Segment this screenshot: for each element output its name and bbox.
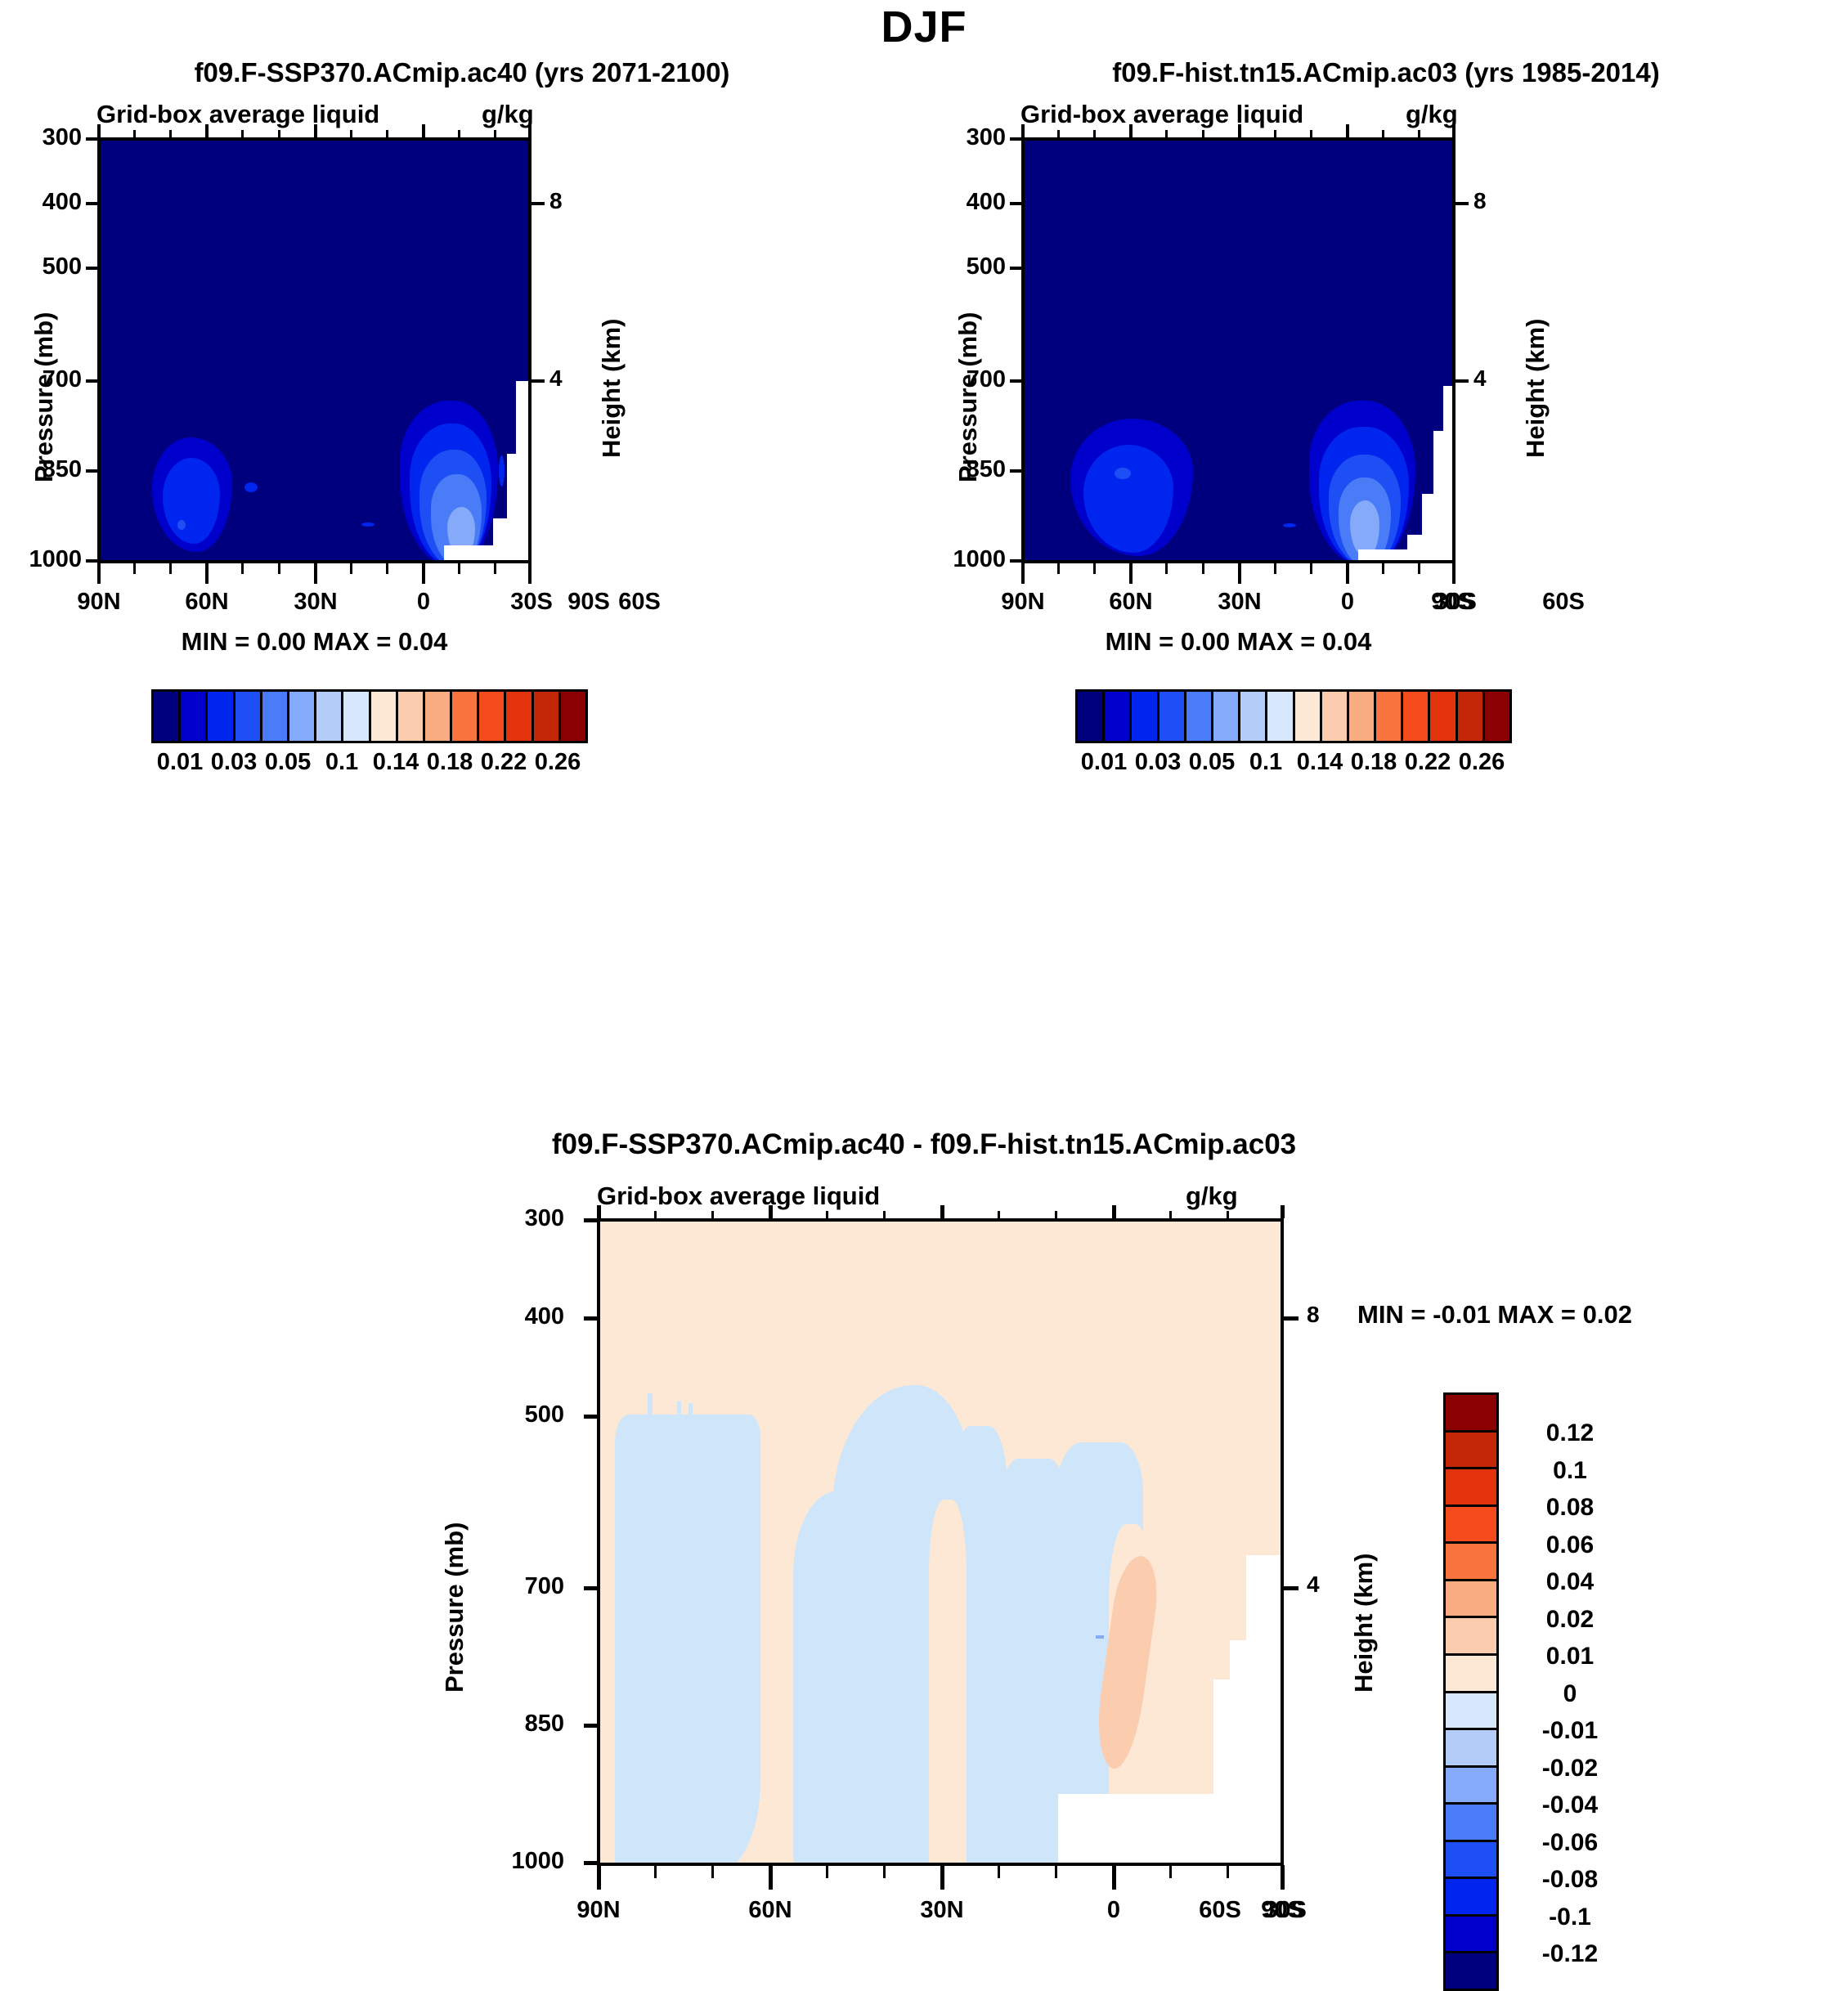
colorbar-label: 0.26 xyxy=(1439,749,1524,776)
panel-top-right-plot-area xyxy=(1021,137,1456,563)
colorbar-cell xyxy=(1446,1656,1496,1693)
missing-data-mask-step1 xyxy=(1433,431,1445,563)
colorbar-cell xyxy=(561,692,585,741)
missing-data-mask-step4 xyxy=(1358,549,1409,563)
colorbar-cell xyxy=(1446,1879,1496,1917)
xtick-0: 0 xyxy=(1299,589,1397,616)
y2tick-8: 8 xyxy=(549,188,563,214)
colorbar-difference-label: 0.04 xyxy=(1509,1568,1631,1596)
panel-bottom-diff-ylabel: Pressure (mb) xyxy=(440,1522,469,1693)
panel-top-left-units: g/kg xyxy=(482,100,534,129)
contour-nh-speck xyxy=(244,482,258,492)
xtick-60N: 60N xyxy=(721,1897,819,1924)
y2tick-8: 8 xyxy=(1307,1302,1320,1328)
y2tick-4: 4 xyxy=(549,365,563,392)
colorbar-cell xyxy=(262,692,289,741)
colorbar-difference-label: -0.01 xyxy=(1509,1717,1631,1745)
xtick-30N: 30N xyxy=(893,1897,991,1924)
colorbar-cell xyxy=(154,692,181,741)
xtick-90N: 90N xyxy=(50,589,148,616)
y2tick-4: 4 xyxy=(1307,1572,1320,1598)
colorbar-cell xyxy=(1446,1917,1496,1954)
xtick-90S: 90S xyxy=(1233,1897,1331,1924)
colorbar-cell xyxy=(1446,1507,1496,1545)
diff-negative-nh-spike1 xyxy=(648,1393,653,1421)
missing-data-mask-step3 xyxy=(1407,535,1424,563)
ytick-500: 500 xyxy=(0,253,82,280)
colorbar-cell xyxy=(1295,692,1322,741)
diff-negative-nh-spike2 xyxy=(677,1401,681,1421)
missing-data-mask-step3 xyxy=(1058,1794,1218,1866)
colorbar-difference-label: -0.08 xyxy=(1509,1866,1631,1894)
xtick-0: 0 xyxy=(1065,1897,1163,1924)
colorbar-cell xyxy=(1376,692,1403,741)
panel-top-left-y2label: Height (km) xyxy=(597,319,626,459)
xtick-60S: 60S xyxy=(1514,589,1613,616)
panel-top-right-y2label: Height (km) xyxy=(1521,319,1550,459)
panel-bottom-diff-units: g/kg xyxy=(1186,1182,1238,1211)
ytick-850: 850 xyxy=(482,1711,564,1738)
panel-top-left-minmax: MIN = 0.00 MAX = 0.04 xyxy=(97,627,532,657)
panel-top-right-ylabel: Pressure (mb) xyxy=(953,312,983,482)
contour-tropics-speck xyxy=(361,522,375,527)
xtick-90S: 90S xyxy=(1403,589,1501,616)
colorbar-cell xyxy=(1446,1693,1496,1731)
ytick-400: 400 xyxy=(924,189,1006,216)
missing-data-mask-step3 xyxy=(444,545,495,563)
colorbar-cell xyxy=(1159,692,1186,741)
colorbar-difference-label: 0.08 xyxy=(1509,1494,1631,1522)
ytick-400: 400 xyxy=(482,1303,564,1330)
colorbar-cell xyxy=(1132,692,1159,741)
panel-top-right-units: g/kg xyxy=(1406,100,1458,129)
colorbar-difference-label: 0.06 xyxy=(1509,1531,1631,1559)
colorbar-cell xyxy=(1446,1618,1496,1656)
contour-nh-mid-core xyxy=(177,520,186,530)
colorbar-difference[interactable] xyxy=(1443,1392,1499,1991)
ytick-300: 300 xyxy=(924,124,1006,151)
colorbar-difference-label: 0.1 xyxy=(1509,1457,1631,1485)
ytick-1000: 1000 xyxy=(482,1848,564,1875)
panel-top-right-variable: Grid-box average liquid xyxy=(1020,100,1303,129)
ytick-500: 500 xyxy=(924,253,1006,280)
colorbar-cell xyxy=(1446,1581,1496,1619)
ytick-300: 300 xyxy=(482,1205,564,1232)
contour-tropics-speck xyxy=(1283,523,1296,527)
xtick-0: 0 xyxy=(375,589,473,616)
panel-top-right-title: f09.F-hist.tn15.ACmip.ac03 (yrs 1985-201… xyxy=(924,57,1848,88)
colorbar-cell xyxy=(235,692,262,741)
ytick-300: 300 xyxy=(0,124,82,151)
colorbar-cell xyxy=(398,692,425,741)
colorbar-difference-label: 0.01 xyxy=(1509,1643,1631,1670)
colorbar-cell xyxy=(506,692,533,741)
ytick-1000: 1000 xyxy=(0,546,82,573)
colorbar-cell xyxy=(452,692,479,741)
colorbar-cell xyxy=(1458,692,1485,741)
colorbar-cell xyxy=(371,692,398,741)
contour-sh-sliver xyxy=(499,455,505,487)
panel-top-left-title: f09.F-SSP370.ACmip.ac40 (yrs 2071-2100) xyxy=(0,57,924,88)
colorbar-difference-label: 0 xyxy=(1509,1680,1631,1708)
colorbar-cell xyxy=(208,692,235,741)
panel-bottom-diff: f09.F-SSP370.ACmip.ac40 - f09.F-hist.tn1… xyxy=(0,1120,1848,1976)
colorbar-cell xyxy=(425,692,452,741)
colorbar-cell xyxy=(1213,692,1240,741)
panel-bottom-diff-plot-area xyxy=(597,1218,1284,1866)
ytick-1000: 1000 xyxy=(924,546,1006,573)
colorbar-cell xyxy=(1485,692,1509,741)
contour-nh-mid-core xyxy=(1115,468,1131,479)
colorbar-absolute-left[interactable] xyxy=(151,689,588,743)
panel-top-right: f09.F-hist.tn15.ACmip.ac03 (yrs 1985-201… xyxy=(924,49,1848,1112)
ytick-500: 500 xyxy=(482,1401,564,1428)
diff-negative-nh-spike3 xyxy=(689,1403,693,1421)
colorbar-cell xyxy=(1446,1805,1496,1842)
colorbar-cell xyxy=(1240,692,1267,741)
colorbar-cell xyxy=(1446,1730,1496,1768)
panel-top-left-ylabel: Pressure (mb) xyxy=(29,312,59,482)
panel-top-left-variable: Grid-box average liquid xyxy=(96,100,379,129)
colorbar-cell xyxy=(534,692,561,741)
panel-bottom-diff-minmax: MIN = -0.01 MAX = 0.02 xyxy=(1357,1300,1632,1330)
colorbar-cell xyxy=(479,692,506,741)
diff-speck xyxy=(1096,1635,1104,1639)
figure-title: DJF xyxy=(0,2,1848,52)
colorbar-cell xyxy=(1446,1469,1496,1507)
colorbar-cell xyxy=(1267,692,1294,741)
xtick-30N: 30N xyxy=(1191,589,1289,616)
panel-top-right-minmax: MIN = 0.00 MAX = 0.04 xyxy=(1021,627,1456,657)
colorbar-cell xyxy=(1446,1544,1496,1581)
colorbar-absolute-right[interactable] xyxy=(1075,689,1512,743)
panel-bottom-diff-y2label: Height (km) xyxy=(1349,1554,1379,1693)
y2tick-8: 8 xyxy=(1473,188,1487,214)
ytick-400: 400 xyxy=(0,189,82,216)
colorbar-cell xyxy=(181,692,208,741)
colorbar-cell xyxy=(1446,1953,1496,1989)
colorbar-cell xyxy=(343,692,370,741)
colorbar-cell xyxy=(316,692,343,741)
colorbar-cell xyxy=(1446,1395,1496,1433)
colorbar-difference-label: 0.12 xyxy=(1509,1419,1631,1447)
colorbar-cell xyxy=(1446,1842,1496,1880)
panel-bottom-diff-variable: Grid-box average liquid xyxy=(597,1182,880,1211)
colorbar-difference-label: 0.02 xyxy=(1509,1606,1631,1634)
colorbar-label: 0.26 xyxy=(515,749,600,776)
xtick-30N: 30N xyxy=(267,589,365,616)
xtick-60N: 60N xyxy=(1082,589,1180,616)
y2tick-4: 4 xyxy=(1473,365,1487,392)
colorbar-cell xyxy=(1322,692,1349,741)
diff-negative-sh1 xyxy=(793,1491,891,1866)
diff-positive-wedge-tropics xyxy=(929,1500,967,1866)
colorbar-difference-label: -0.06 xyxy=(1509,1829,1631,1857)
ytick-700: 700 xyxy=(482,1573,564,1600)
colorbar-cell xyxy=(1446,1433,1496,1470)
colorbar-difference-label: -0.1 xyxy=(1509,1904,1631,1931)
missing-data-mask xyxy=(516,381,532,563)
xtick-90N: 90N xyxy=(974,589,1072,616)
colorbar-cell xyxy=(289,692,316,741)
colorbar-cell xyxy=(1078,692,1105,741)
xtick-90N: 90N xyxy=(549,1897,648,1924)
panel-bottom-diff-title: f09.F-SSP370.ACmip.ac40 - f09.F-hist.tn1… xyxy=(0,1128,1848,1161)
colorbar-difference-label: -0.12 xyxy=(1509,1940,1631,1968)
colorbar-cell xyxy=(1403,692,1430,741)
colorbar-cell xyxy=(1446,1768,1496,1805)
panel-top-left: f09.F-SSP370.ACmip.ac40 (yrs 2071-2100) … xyxy=(0,49,924,1112)
missing-data-mask xyxy=(1443,386,1456,563)
missing-data-mask xyxy=(1246,1555,1284,1866)
diff-negative-nh-lower xyxy=(615,1663,738,1866)
colorbar-difference-label: -0.02 xyxy=(1509,1755,1631,1782)
missing-data-mask-step2 xyxy=(1422,494,1435,563)
colorbar-difference-label: -0.04 xyxy=(1509,1791,1631,1819)
colorbar-cell xyxy=(1105,692,1132,741)
colorbar-cell xyxy=(1349,692,1376,741)
missing-data-mask-step2 xyxy=(493,518,509,563)
panel-top-left-plot-area xyxy=(97,137,532,563)
colorbar-cell xyxy=(1430,692,1457,741)
colorbar-cell xyxy=(1186,692,1213,741)
xtick-90S-left: 90S xyxy=(540,589,638,616)
xtick-60N: 60N xyxy=(158,589,256,616)
